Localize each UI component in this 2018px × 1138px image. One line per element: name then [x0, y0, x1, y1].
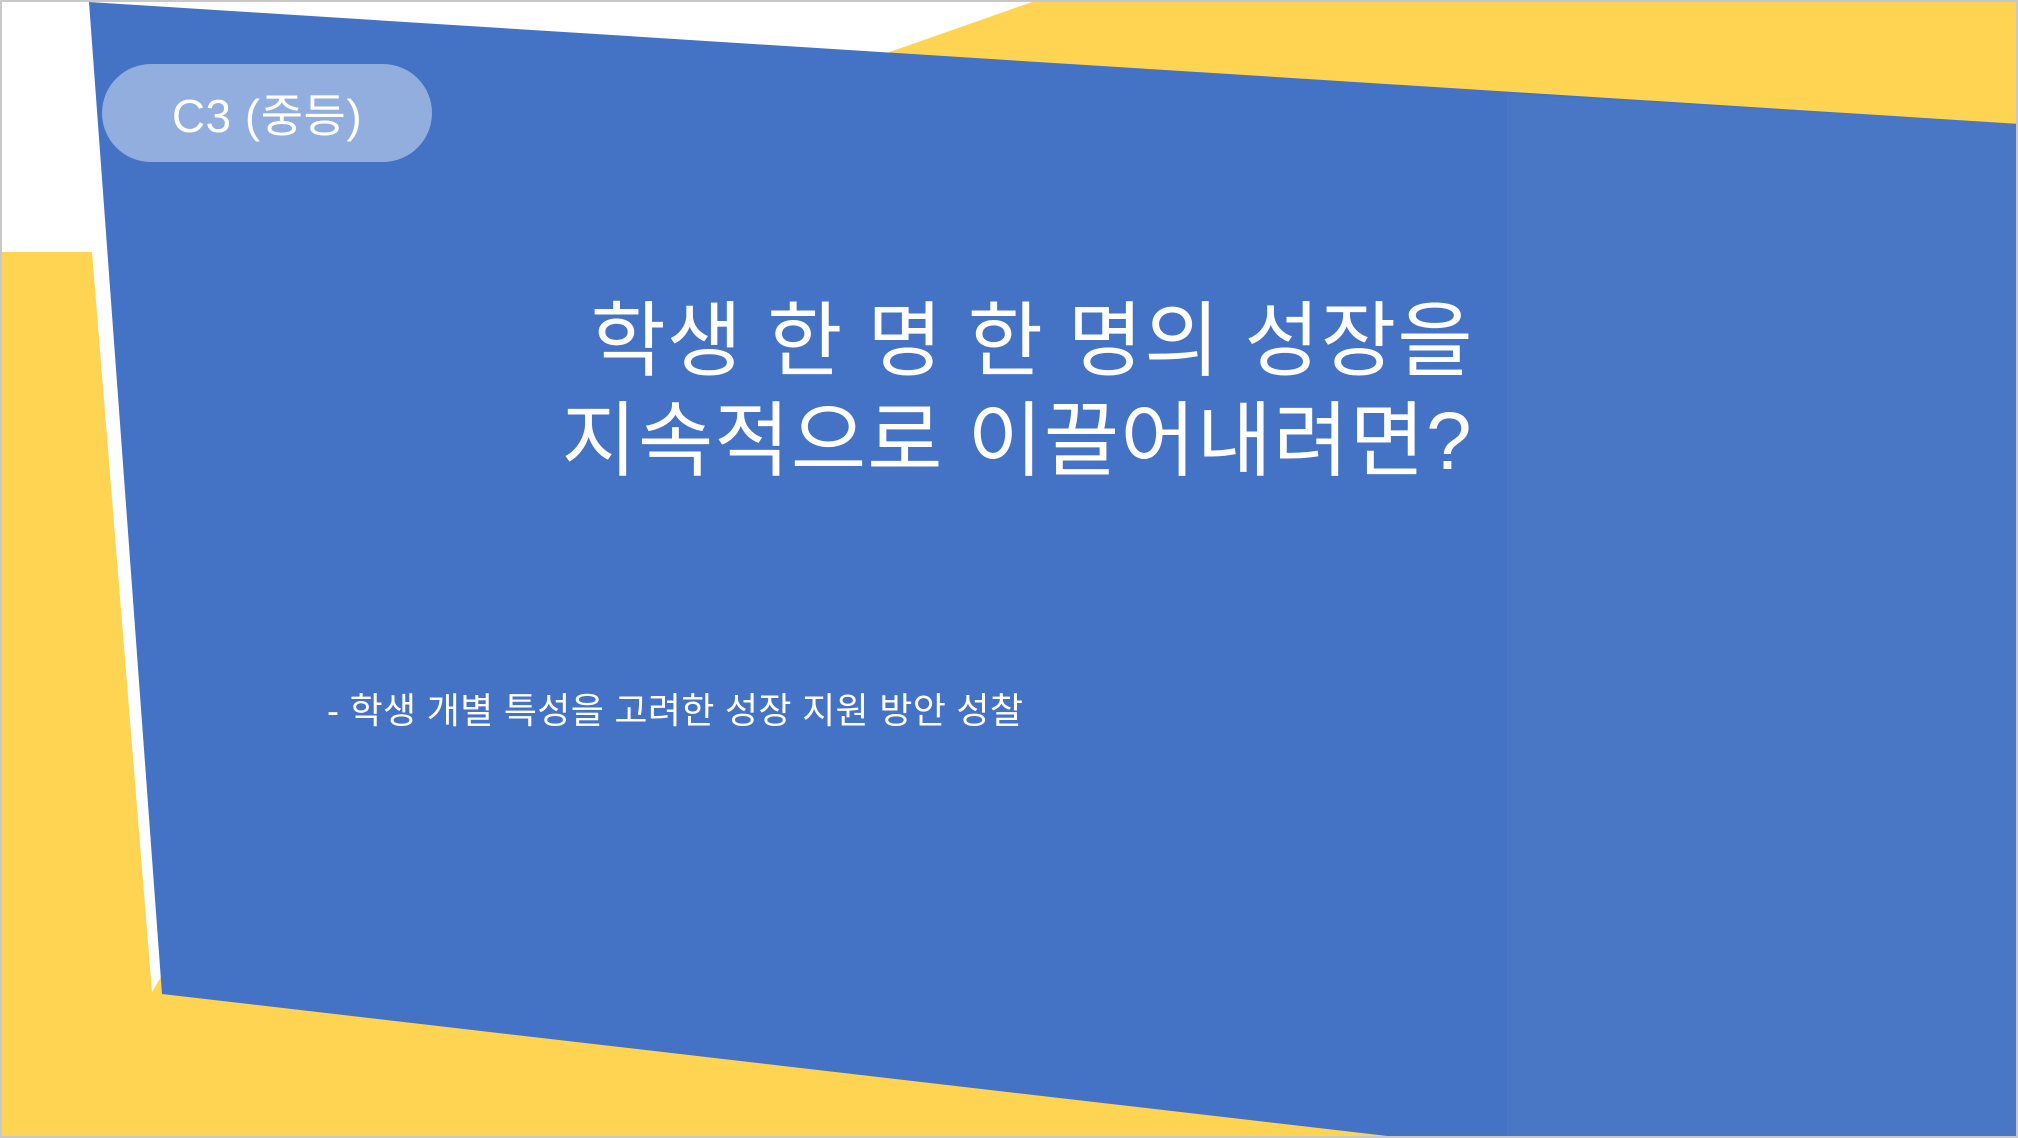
course-code-badge-label: C3 (중등): [172, 80, 362, 146]
slide-canvas: C3 (중등) 학생 한 명 한 명의 성장을 지속적으로 이끌어내려면? - …: [0, 0, 2018, 1138]
slide-subtitle: - 학생 개별 특성을 고려한 성장 지원 방안 성찰: [327, 682, 1023, 734]
course-code-badge: C3 (중등): [102, 64, 432, 162]
blue-highlight-overlay: [1507, 2, 2018, 1138]
slide-title-line-2: 지속적으로 이끌어내려면?: [327, 392, 1727, 492]
slide-title-line-1: 학생 한 명 한 명의 성장을: [327, 292, 1727, 392]
slide-title: 학생 한 명 한 명의 성장을 지속적으로 이끌어내려면?: [327, 292, 1727, 492]
